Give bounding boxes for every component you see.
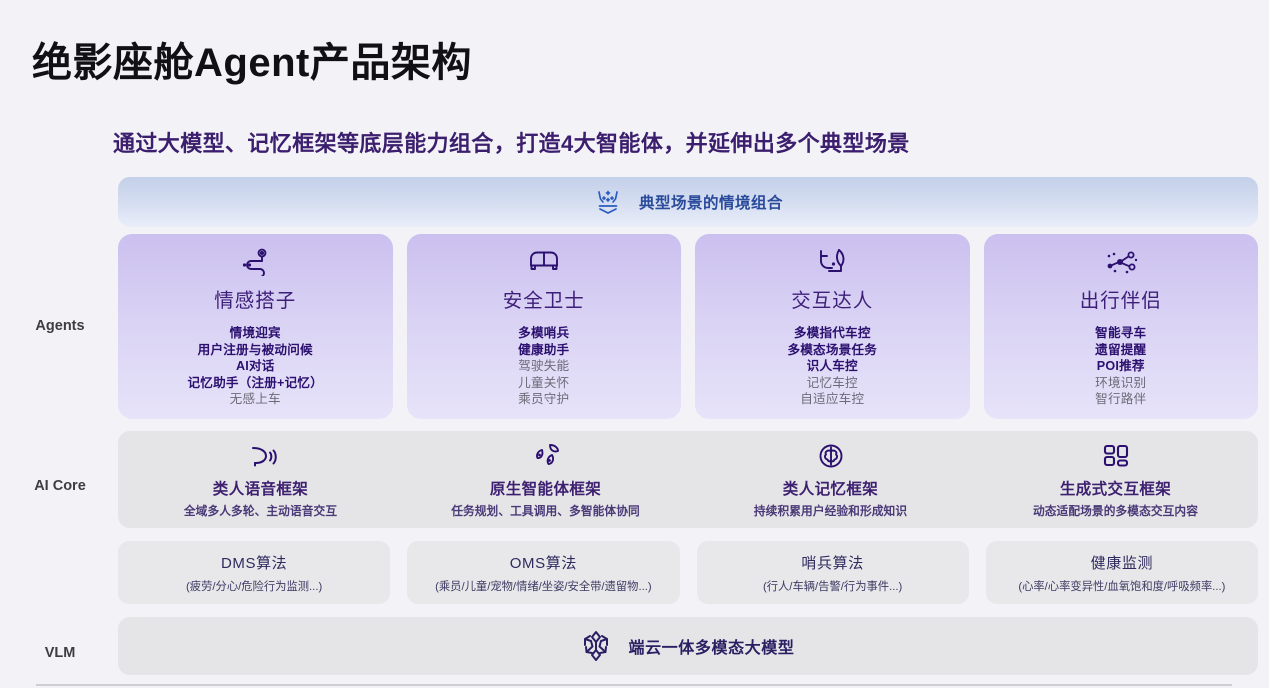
agent-card-interaction[interactable]: 交互达人 多模指代车控 多模态场景任务 识人车控 记忆车控 自适应车控 [695,234,970,419]
agent-item-list: 多模哨兵 健康助手 驾驶失能 儿童关怀 乘员守护 [518,325,569,408]
algorithm-title: DMS算法 [221,552,287,573]
row-label-agents: Agents [6,318,114,334]
page-subtitle: 通过大模型、记忆框架等底层能力组合，打造4大智能体，并延伸出多个典型场景 [113,126,910,158]
bottom-divider [36,684,1232,686]
row-label-ai-core: AI Core [6,478,114,494]
hand-gesture-icon [816,247,848,277]
agent-title: 安全卫士 [503,284,585,313]
agent-item: 无感上车 [188,391,324,408]
page-title: 绝影座舱Agent产品架构 [32,30,472,88]
algorithm-title: 哨兵算法 [801,552,863,573]
brain-memory-icon [817,441,845,471]
algorithm-subtitle: (行人/车辆/告警/行为事件...) [763,578,902,594]
agent-item-list: 智能寻车 遗留提醒 POI推荐 环境识别 智行路伴 [1095,325,1146,408]
algorithm-subtitle: (心率/心率变异性/血氧饱和度/呼吸频率...) [1018,578,1225,594]
algorithm-title: OMS算法 [510,552,577,573]
framework-cell-generative[interactable]: 生成式交互框架 动态适配场景的多模态交互内容 [973,431,1258,528]
agent-title: 情感搭子 [214,284,296,313]
algorithm-card-health[interactable]: 健康监测 (心率/心率变异性/血氧饱和度/呼吸频率...) [986,541,1258,604]
vlm-label: 端云一体多模态大模型 [628,634,794,658]
network-nodes-icon [1103,247,1139,277]
voice-wave-icon [245,441,277,471]
algorithm-subtitle: (乘员/儿童/宠物/情绪/坐姿/安全带/遗留物...) [435,578,652,594]
snowflake-model-icon [581,630,611,662]
framework-subtitle: 全域多人多轮、主动语音交互 [184,502,337,519]
framework-title: 类人记忆框架 [783,477,878,499]
agent-item: 识人车控 [787,358,877,375]
agent-item: 智能寻车 [1095,325,1146,342]
agent-item-list: 情境迎宾 用户注册与被动问候 AI对话 记忆助手（注册+记忆） 无感上车 [188,325,324,408]
agent-item: 驾驶失能 [518,358,569,375]
framework-title: 原生智能体框架 [490,477,601,499]
row-label-vlm: VLM [6,645,114,661]
agent-item: 智行路伴 [1095,391,1146,408]
vlm-bar[interactable]: 端云一体多模态大模型 [118,617,1258,675]
agent-item: 乘员守护 [518,391,569,408]
agent-item: 环境识别 [1095,375,1146,392]
framework-subtitle: 动态适配场景的多模态交互内容 [1033,502,1198,519]
agent-item: 情境迎宾 [188,325,324,342]
agent-card-travel[interactable]: 出行伴侣 智能寻车 遗留提醒 POI推荐 环境识别 智行路伴 [984,234,1259,419]
agent-item: 健康助手 [518,342,569,359]
agent-item: POI推荐 [1095,358,1146,375]
slide-canvas: 绝影座舱Agent产品架构 通过大模型、记忆框架等底层能力组合，打造4大智能体，… [0,0,1269,688]
agent-title: 交互达人 [791,284,873,313]
agent-card-safety[interactable]: 安全卫士 多模哨兵 健康助手 驾驶失能 儿童关怀 乘员守护 [407,234,682,419]
framework-cell-voice[interactable]: 类人语音框架 全域多人多轮、主动语音交互 [118,431,403,528]
agent-item: 多模哨兵 [518,325,569,342]
agent-item: 记忆助手（注册+记忆） [188,375,324,392]
agent-leaves-icon [530,441,562,471]
route-pin-icon [238,247,272,277]
framework-subtitle: 持续积累用户经验和形成知识 [754,502,907,519]
algorithm-card-dms[interactable]: DMS算法 (疲劳/分心/危险行为监测...) [118,541,390,604]
framework-title: 生成式交互框架 [1060,477,1171,499]
agent-item-list: 多模指代车控 多模态场景任务 识人车控 记忆车控 自适应车控 [787,325,877,408]
grid-blocks-icon [1102,441,1130,471]
scenario-banner-label: 典型场景的情境组合 [639,191,783,213]
agent-item: 用户注册与被动问候 [188,342,324,359]
agent-item: 多模指代车控 [787,325,877,342]
framework-title: 类人语音框架 [213,477,308,499]
framework-cell-memory[interactable]: 类人记忆框架 持续积累用户经验和形成知识 [688,431,973,528]
agent-item: 自适应车控 [787,391,877,408]
algorithms-row: DMS算法 (疲劳/分心/危险行为监测...) OMS算法 (乘员/儿童/宠物/… [118,541,1258,604]
algorithm-subtitle: (疲劳/分心/危险行为监测...) [186,578,322,594]
sparkle-scene-icon [593,187,623,217]
framework-cell-agent[interactable]: 原生智能体框架 任务规划、工具调用、多智能体协同 [403,431,688,528]
agent-item: 多模态场景任务 [787,342,877,359]
agents-row: 情感搭子 情境迎宾 用户注册与被动问候 AI对话 记忆助手（注册+记忆） 无感上… [118,234,1258,419]
agent-item: AI对话 [188,358,324,375]
agent-item: 记忆车控 [787,375,877,392]
scenario-banner[interactable]: 典型场景的情境组合 [118,177,1258,227]
algorithm-card-oms[interactable]: OMS算法 (乘员/儿童/宠物/情绪/坐姿/安全带/遗留物...) [407,541,679,604]
agent-item: 儿童关怀 [518,375,569,392]
framework-subtitle: 任务规划、工具调用、多智能体协同 [451,502,640,519]
ai-core-panel: 类人语音框架 全域多人多轮、主动语音交互 原生智能体框架 任务规划、工具调用、多… [118,431,1258,528]
algorithm-card-sentry[interactable]: 哨兵算法 (行人/车辆/告警/行为事件...) [697,541,969,604]
agent-title: 出行伴侣 [1080,284,1162,313]
agent-item: 遗留提醒 [1095,342,1146,359]
algorithm-title: 健康监测 [1091,552,1153,573]
agent-card-emotion[interactable]: 情感搭子 情境迎宾 用户注册与被动问候 AI对话 记忆助手（注册+记忆） 无感上… [118,234,393,419]
car-front-icon [526,247,562,277]
